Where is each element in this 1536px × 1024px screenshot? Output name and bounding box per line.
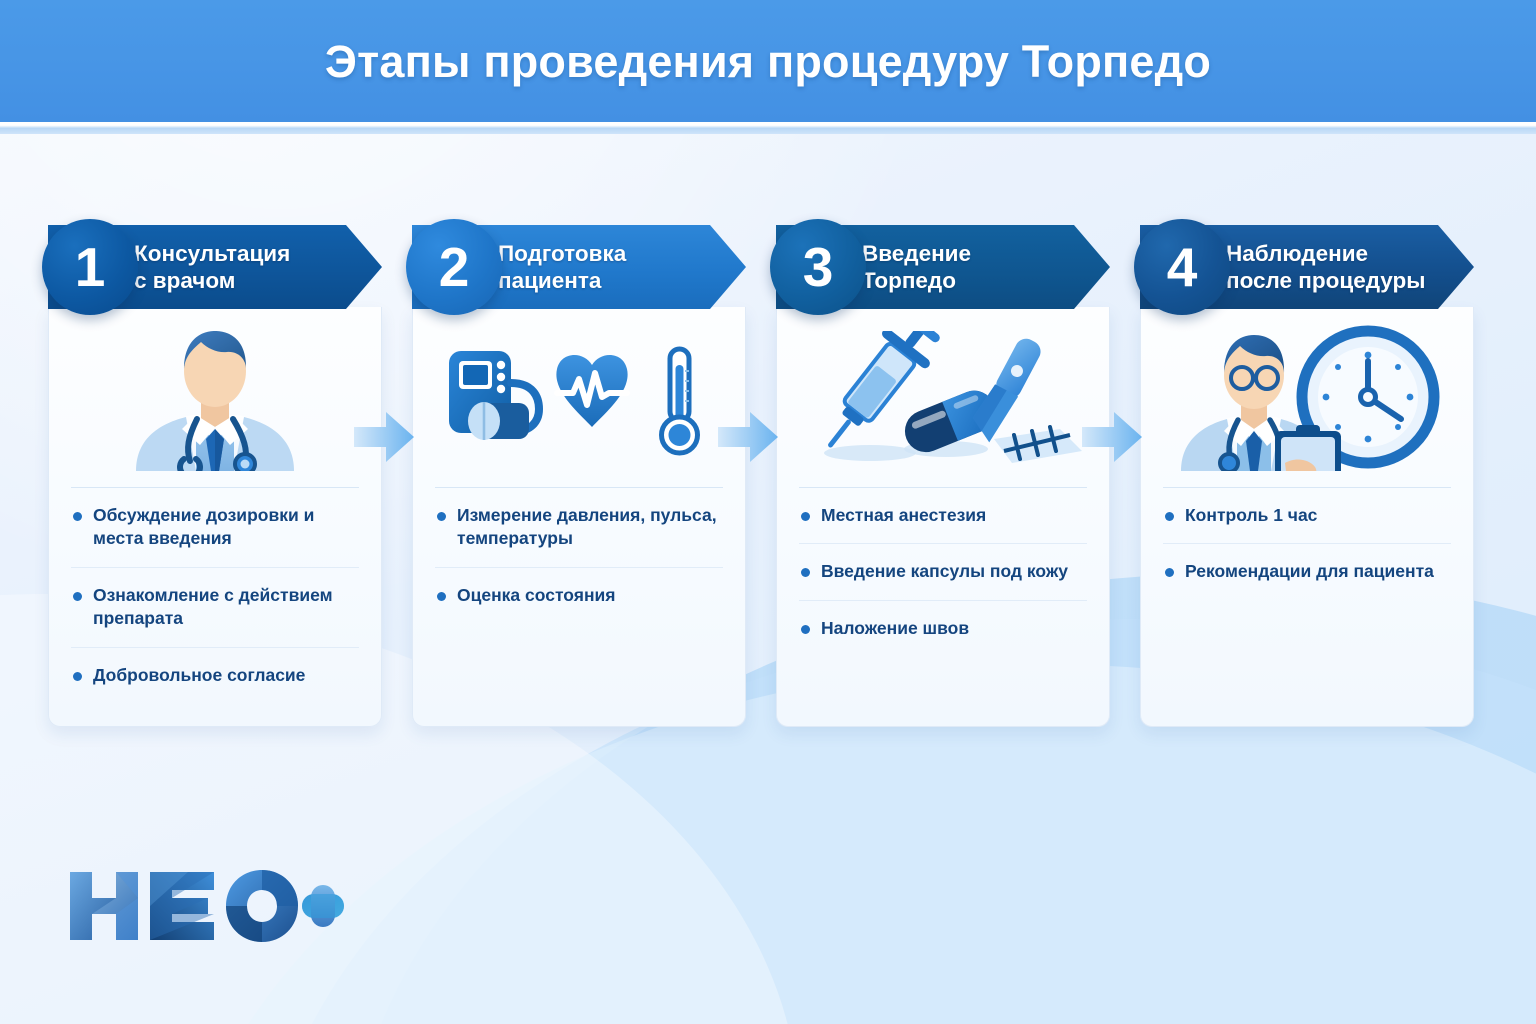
step-1-illustration [49, 321, 381, 475]
step-card-3[interactable]: Введение Торпедо 3 [776, 225, 1110, 727]
doctor-clipboard-clock-icon [1163, 321, 1451, 471]
step-3-bullet-2: Введение капсулы под кожу [821, 560, 1068, 583]
step-2-number-badge: 2 [406, 219, 502, 315]
bullet-dot-icon [73, 592, 82, 601]
bullet-dot-icon [437, 512, 446, 521]
list-item: Измерение давления, пульса, температуры [435, 487, 723, 567]
step-1-bullet-2: Ознакомление с действием препарата [93, 584, 357, 631]
step-1-bullet-1: Обсуждение дозировки и места введения [93, 504, 357, 551]
step-2-number: 2 [439, 240, 470, 295]
step-1-body: Обсуждение дозировки и места введения Оз… [48, 307, 382, 727]
bullet-dot-icon [437, 592, 446, 601]
step-3-bullet-1: Местная анестезия [821, 504, 986, 527]
step-4-bullet-list: Контроль 1 час Рекомендации для пациента [1163, 487, 1451, 600]
step-3-bullet-list: Местная анестезия Введение капсулы под к… [799, 487, 1087, 656]
step-4-number-badge: 4 [1134, 219, 1230, 315]
arrow-step2-to-step3 [716, 410, 780, 464]
arrow-step3-to-step4 [1080, 410, 1144, 464]
syringe-capsule-scalpel-icon [798, 331, 1088, 471]
list-item: Наложение швов [799, 600, 1087, 656]
step-1-number-badge: 1 [42, 219, 138, 315]
bullet-dot-icon [1165, 512, 1174, 521]
bullet-dot-icon [1165, 568, 1174, 577]
brand-logo[interactable]: НЕО+ [66, 866, 344, 944]
step-card-1[interactable]: Консультация с врачом 1 [48, 225, 382, 727]
list-item: Введение капсулы под кожу [799, 543, 1087, 599]
step-4-illustration [1141, 321, 1473, 475]
step-2-bullet-1: Измерение давления, пульса, температуры [457, 504, 721, 551]
list-item: Обсуждение дозировки и места введения [71, 487, 359, 567]
list-item: Ознакомление с действием препарата [71, 567, 359, 647]
step-3-number: 3 [803, 240, 834, 295]
list-item: Местная анестезия [799, 487, 1087, 543]
bullet-dot-icon [73, 512, 82, 521]
bullet-dot-icon [801, 568, 810, 577]
step-2-bullet-2: Оценка состояния [457, 584, 616, 607]
bullet-dot-icon [801, 625, 810, 634]
step-3-number-badge: 3 [770, 219, 866, 315]
doctor-stethoscope-icon [100, 325, 330, 471]
page-title: Этапы проведения процедуру Торпедо [325, 39, 1211, 84]
step-4-bullet-1: Контроль 1 час [1185, 504, 1317, 527]
step-1-number: 1 [75, 240, 106, 295]
step-3-title: Введение Торпедо [862, 240, 971, 295]
step-4-bullet-2: Рекомендации для пациента [1185, 560, 1434, 583]
step-4-number: 4 [1167, 240, 1198, 295]
step-card-4[interactable]: Наблюдение после процедуры 4 [1140, 225, 1474, 727]
blood-pressure-heart-thermometer-icon [439, 343, 719, 471]
step-2-illustration [413, 321, 745, 475]
bullet-dot-icon [801, 512, 810, 521]
list-item: Рекомендации для пациента [1163, 543, 1451, 599]
list-item: Оценка состояния [435, 567, 723, 623]
step-1-title: Консультация с врачом [134, 240, 290, 295]
step-3-body: Местная анестезия Введение капсулы под к… [776, 307, 1110, 727]
step-2-title: Подготовка пациента [498, 240, 626, 295]
step-2-body: Измерение давления, пульса, температуры … [412, 307, 746, 727]
step-3-bullet-3: Наложение швов [821, 617, 969, 640]
step-1-bullet-3: Добровольное согласие [93, 664, 305, 687]
step-1-bullet-list: Обсуждение дозировки и места введения Оз… [71, 487, 359, 703]
list-item: Добровольное согласие [71, 647, 359, 703]
steps-container: Консультация с врачом 1 [0, 225, 1536, 745]
step-2-bullet-list: Измерение давления, пульса, температуры … [435, 487, 723, 623]
step-4-title: Наблюдение после процедуры [1226, 240, 1425, 295]
arrow-step1-to-step2 [352, 410, 416, 464]
list-item: Контроль 1 час [1163, 487, 1451, 543]
title-bar-underline [0, 122, 1536, 134]
step-3-illustration [777, 321, 1109, 475]
bullet-dot-icon [73, 672, 82, 681]
step-card-2[interactable]: Подготовка пациента 2 [412, 225, 746, 727]
neo-plus-logo-icon [66, 866, 344, 944]
step-4-body: Контроль 1 час Рекомендации для пациента [1140, 307, 1474, 727]
title-bar: Этапы проведения процедуру Торпедо [0, 0, 1536, 122]
